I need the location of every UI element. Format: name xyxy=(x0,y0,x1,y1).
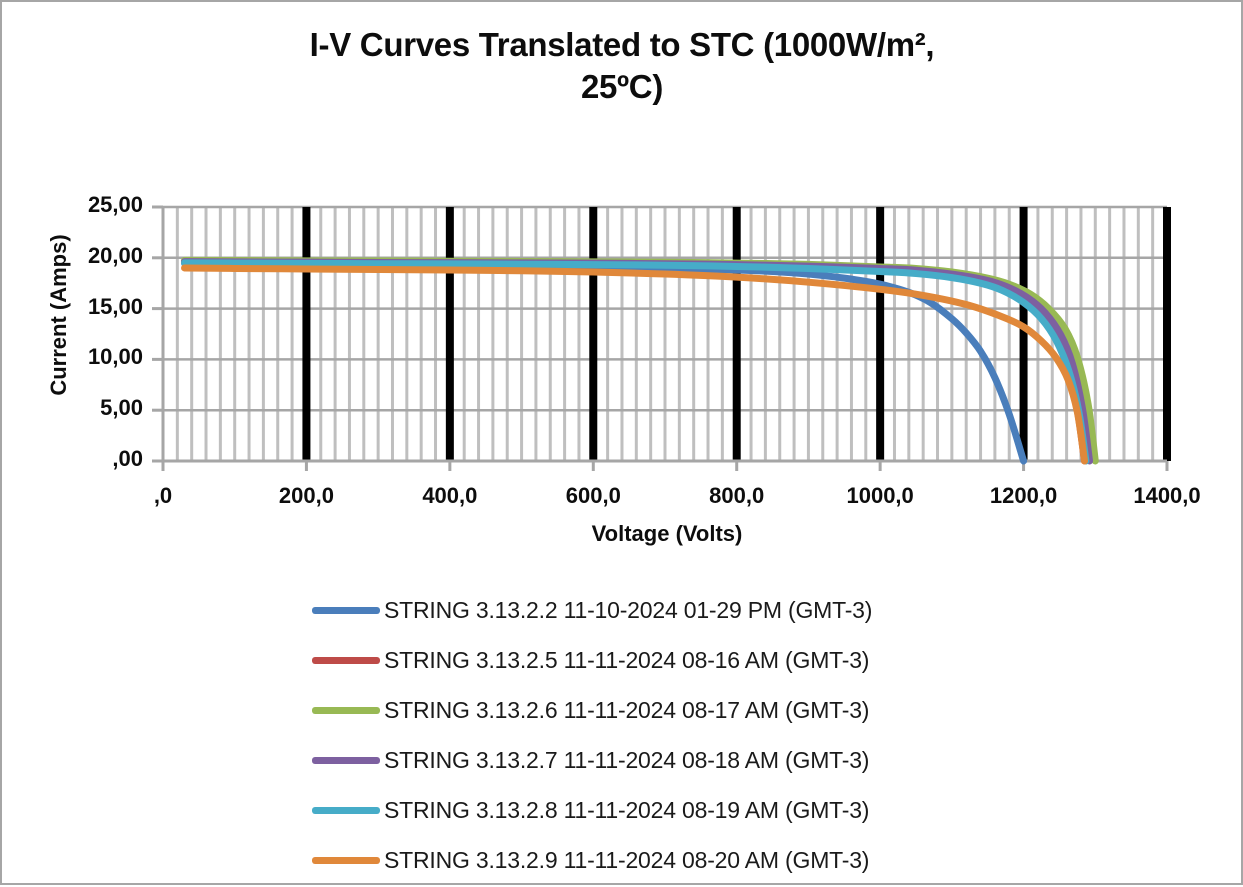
legend-item[interactable]: STRING 3.13.2.2 11-10-2024 01-29 PM (GMT… xyxy=(312,585,1012,635)
legend-item-label: STRING 3.13.2.5 11-11-2024 08-16 AM (GMT… xyxy=(384,647,869,674)
y-axis-title: Current (Amps) xyxy=(46,205,72,425)
legend-item-label: STRING 3.13.2.2 11-10-2024 01-29 PM (GMT… xyxy=(384,597,872,624)
y-axis-tick-marks xyxy=(152,207,163,461)
x-axis-title: Voltage (Volts) xyxy=(162,521,1172,547)
legend-item[interactable]: STRING 3.13.2.6 11-11-2024 08-17 AM (GMT… xyxy=(312,685,1012,735)
legend-item-label: STRING 3.13.2.9 11-11-2024 08-20 AM (GMT… xyxy=(384,847,869,874)
legend-color-swatch-icon xyxy=(312,757,380,764)
legend-item[interactable]: STRING 3.13.2.7 11-11-2024 08-18 AM (GMT… xyxy=(312,735,1012,785)
x-axis-tick-label: 1000,0 xyxy=(810,483,950,509)
legend-color-swatch-icon xyxy=(312,707,380,714)
legend-color-swatch-icon xyxy=(312,807,380,814)
x-axis-tick-label: 400,0 xyxy=(380,483,520,509)
x-axis-tick-label: 600,0 xyxy=(523,483,663,509)
x-axis-tick-label: 200,0 xyxy=(236,483,376,509)
legend-item[interactable]: STRING 3.13.2.8 11-11-2024 08-19 AM (GMT… xyxy=(312,785,1012,835)
legend-item-label: STRING 3.13.2.8 11-11-2024 08-19 AM (GMT… xyxy=(384,797,869,824)
legend-color-swatch-icon xyxy=(312,857,380,864)
chart-container: I-V Curves Translated to STC (1000W/m², … xyxy=(0,0,1243,885)
y-axis-tick-label: ,00 xyxy=(33,446,143,472)
x-axis-tick-label: ,0 xyxy=(93,483,233,509)
x-axis-tick-label: 800,0 xyxy=(667,483,807,509)
legend-item-label: STRING 3.13.2.7 11-11-2024 08-18 AM (GMT… xyxy=(384,747,869,774)
chart-legend: STRING 3.13.2.2 11-10-2024 01-29 PM (GMT… xyxy=(312,585,1012,885)
x-axis-tick-label: 1400,0 xyxy=(1097,483,1237,509)
legend-color-swatch-icon xyxy=(312,657,380,664)
minor-gridlines xyxy=(177,207,1152,461)
legend-item-label: STRING 3.13.2.6 11-11-2024 08-17 AM (GMT… xyxy=(384,697,869,724)
x-axis-tick-label: 1200,0 xyxy=(954,483,1094,509)
legend-color-swatch-icon xyxy=(312,607,380,614)
legend-item[interactable]: STRING 3.13.2.9 11-11-2024 08-20 AM (GMT… xyxy=(312,835,1012,885)
legend-item[interactable]: STRING 3.13.2.5 11-11-2024 08-16 AM (GMT… xyxy=(312,635,1012,685)
